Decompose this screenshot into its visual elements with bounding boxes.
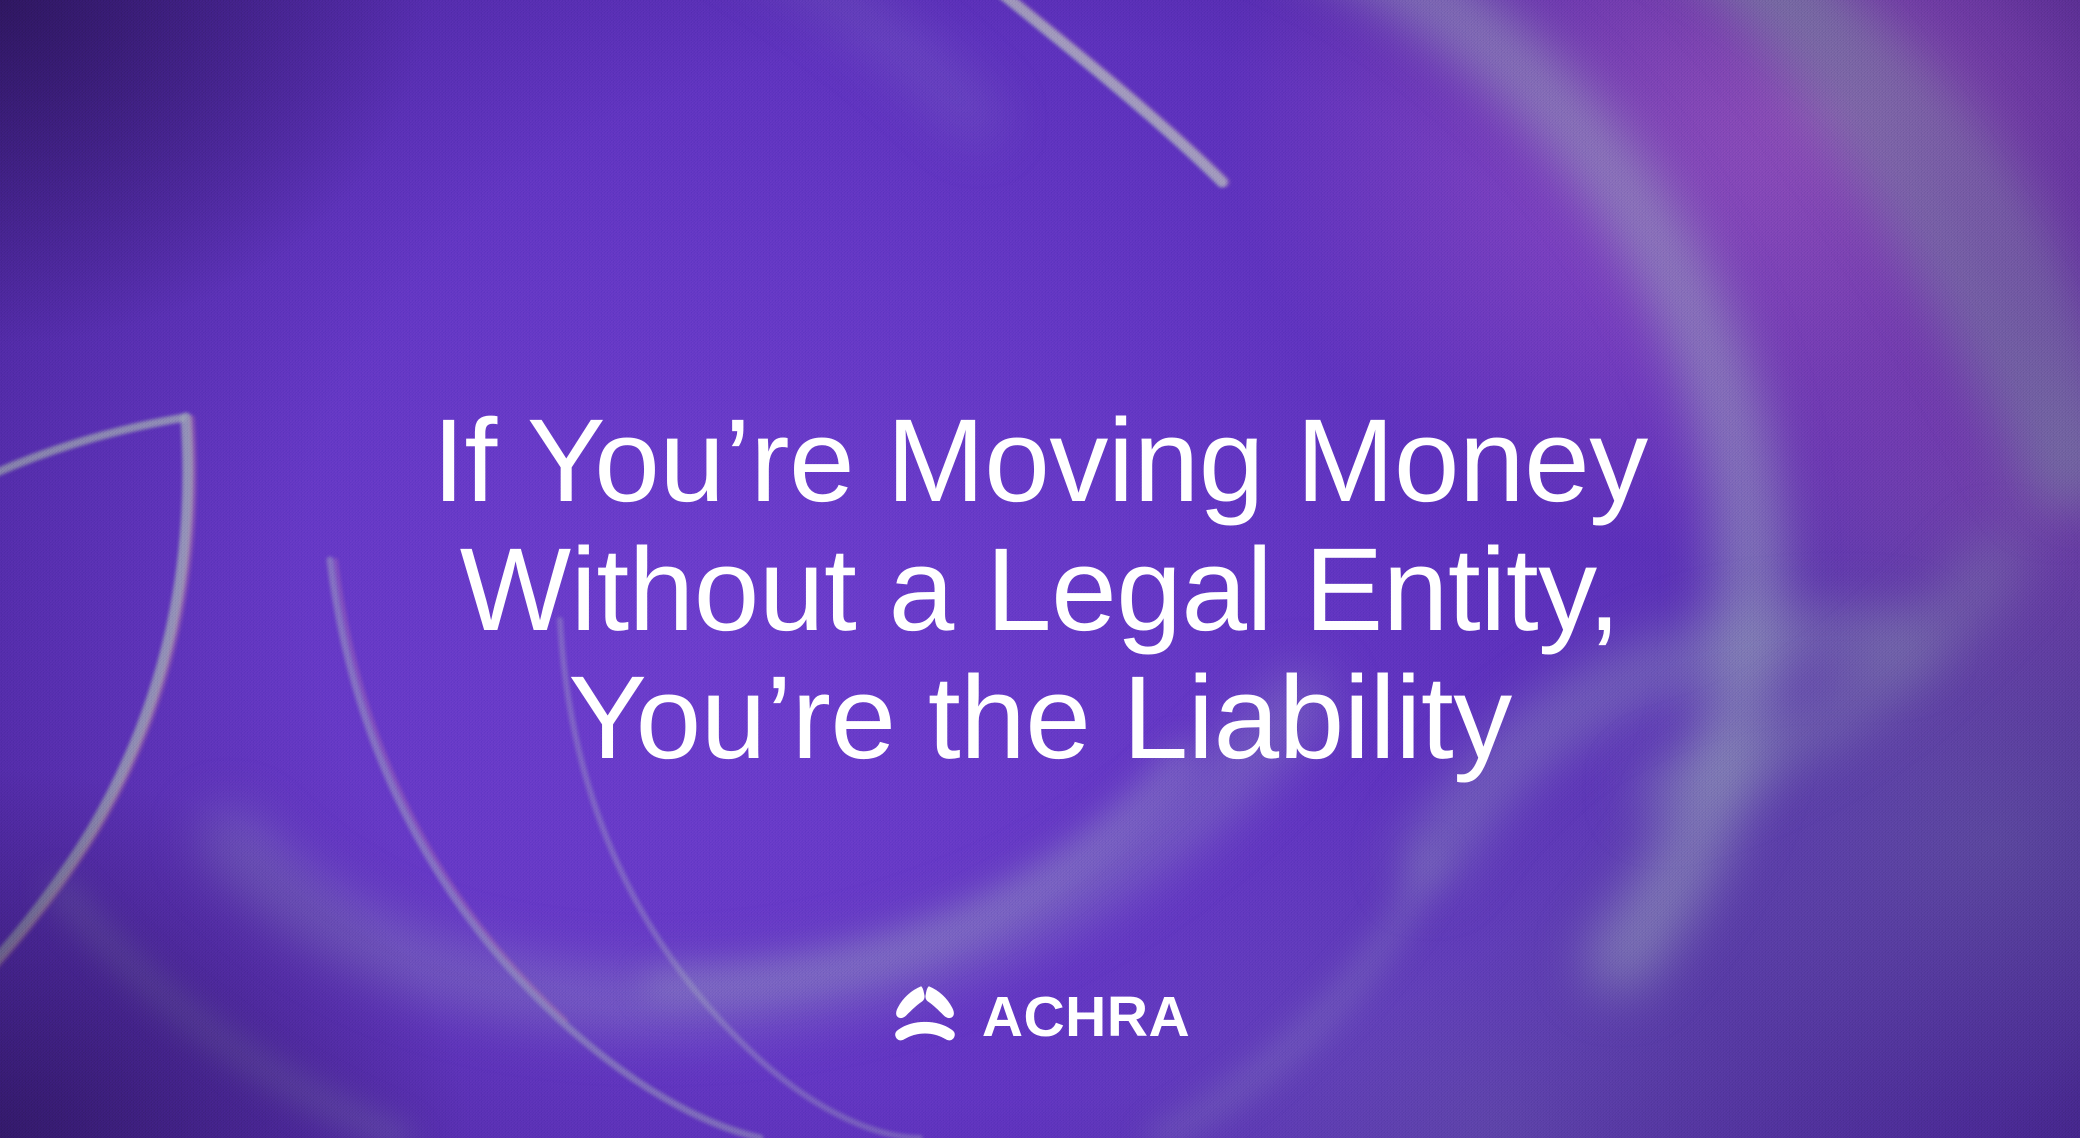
page-title: If You’re Moving Money Without a Legal E… [0,79,2080,783]
headline-line-3: You’re the Liability [0,654,2080,783]
headline-line-2: Without a Legal Entity, [0,526,2080,655]
achra-triskelion-logo-icon [890,982,960,1052]
poster-canvas: If You’re Moving Money Without a Legal E… [0,0,2080,1138]
brand-logo-lockup: ACHRA [0,982,2080,1052]
headline-line-1: If You’re Moving Money [0,397,2080,526]
poster-content: If You’re Moving Money Without a Legal E… [0,0,2080,1138]
brand-wordmark: ACHRA [982,989,1190,1046]
